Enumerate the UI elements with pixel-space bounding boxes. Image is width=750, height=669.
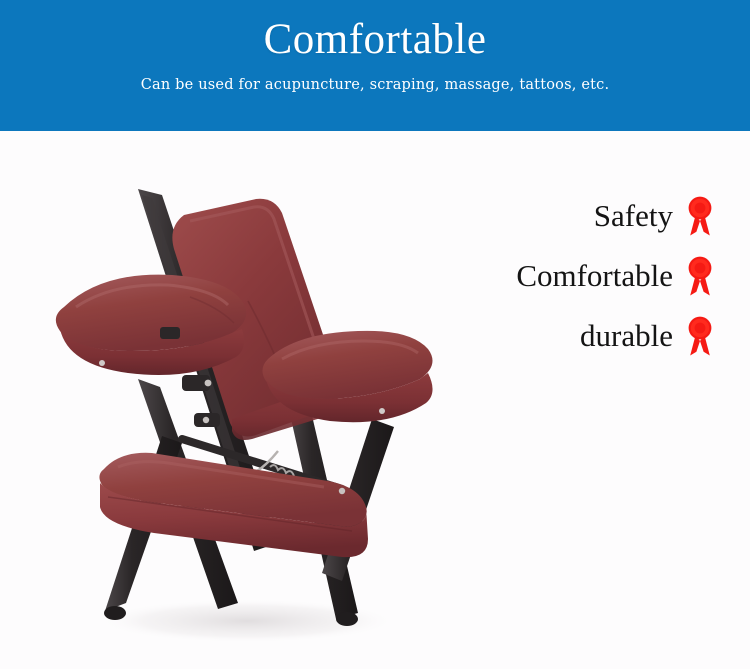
chair-arm-pad-left [56, 275, 246, 375]
feature-label: Comfortable [516, 259, 673, 293]
product-banner: Comfortable Can be used for acupuncture,… [0, 0, 750, 669]
award-ribbon-icon [686, 255, 714, 297]
feature-item-durable: durable [384, 314, 714, 358]
feature-label: Safety [594, 199, 673, 233]
banner-header: Comfortable Can be used for acupuncture,… [0, 0, 750, 131]
award-ribbon-icon [686, 195, 714, 237]
award-ribbon-icon [686, 315, 714, 357]
feature-item-safety: Safety [384, 194, 714, 238]
page-subtitle: Can be used for acupuncture, scraping, m… [141, 76, 610, 94]
feature-list: Safety Comfortable [384, 194, 714, 358]
page-title: Comfortable [264, 16, 487, 64]
banner-body: Safety Comfortable [0, 131, 750, 669]
feature-label: durable [580, 319, 673, 353]
feature-item-comfortable: Comfortable [384, 254, 714, 298]
